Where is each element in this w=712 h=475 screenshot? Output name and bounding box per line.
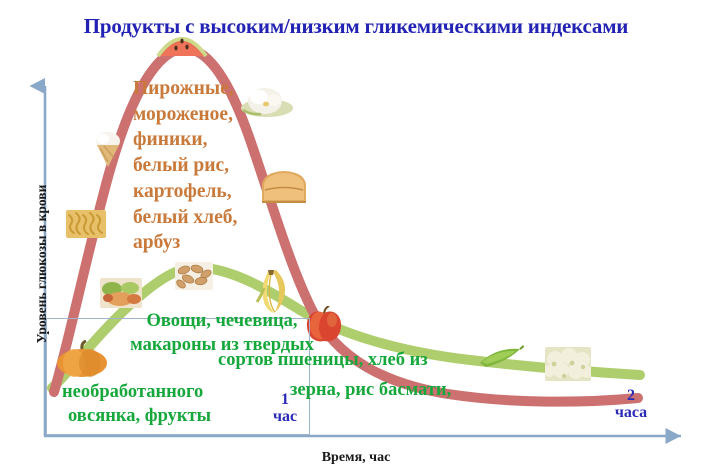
high-gi-line: белый рис, bbox=[133, 153, 348, 179]
pea-pod-icon bbox=[478, 345, 524, 371]
page-title: Продукты с высоким/низким гликемическими… bbox=[0, 14, 712, 39]
high-gi-line: арбуз bbox=[133, 230, 348, 256]
x-tick-2-hours-number: 2 bbox=[627, 387, 635, 404]
ice-cream-icon bbox=[92, 128, 124, 168]
high-gi-line: мороженое, bbox=[133, 102, 348, 128]
lentils-icon bbox=[175, 262, 213, 290]
x-tick-2-hours-unit: часа bbox=[615, 404, 647, 421]
chart-canvas: Продукты с высоким/низким гликемическими… bbox=[0, 0, 712, 475]
low-gi-line-extra-2: зерна, рис басмати, bbox=[290, 380, 451, 401]
low-gi-line: Овощи, чечевица, bbox=[62, 310, 382, 334]
high-gi-line: белый хлеб, bbox=[133, 205, 348, 231]
high-gi-food-label: Пирожные, мороженое, финики, белый рис, … bbox=[133, 76, 348, 256]
high-gi-line: картофель, bbox=[133, 179, 348, 205]
low-gi-line: овсянка, фрукты bbox=[62, 405, 382, 429]
high-gi-line: Пирожные, bbox=[133, 76, 348, 102]
watermelon-icon bbox=[156, 26, 208, 60]
x-axis-title: Время, час bbox=[0, 450, 712, 466]
high-gi-line: финики, bbox=[133, 127, 348, 153]
x-tick-2-hours: 2 часа bbox=[598, 388, 664, 422]
cauliflower-icon bbox=[545, 347, 591, 381]
low-gi-line-extra-1: сортов пшеницы, хлеб из bbox=[218, 350, 428, 371]
pasta-icon bbox=[66, 210, 106, 238]
banana-icon bbox=[252, 268, 292, 316]
salad-icon bbox=[100, 278, 142, 308]
